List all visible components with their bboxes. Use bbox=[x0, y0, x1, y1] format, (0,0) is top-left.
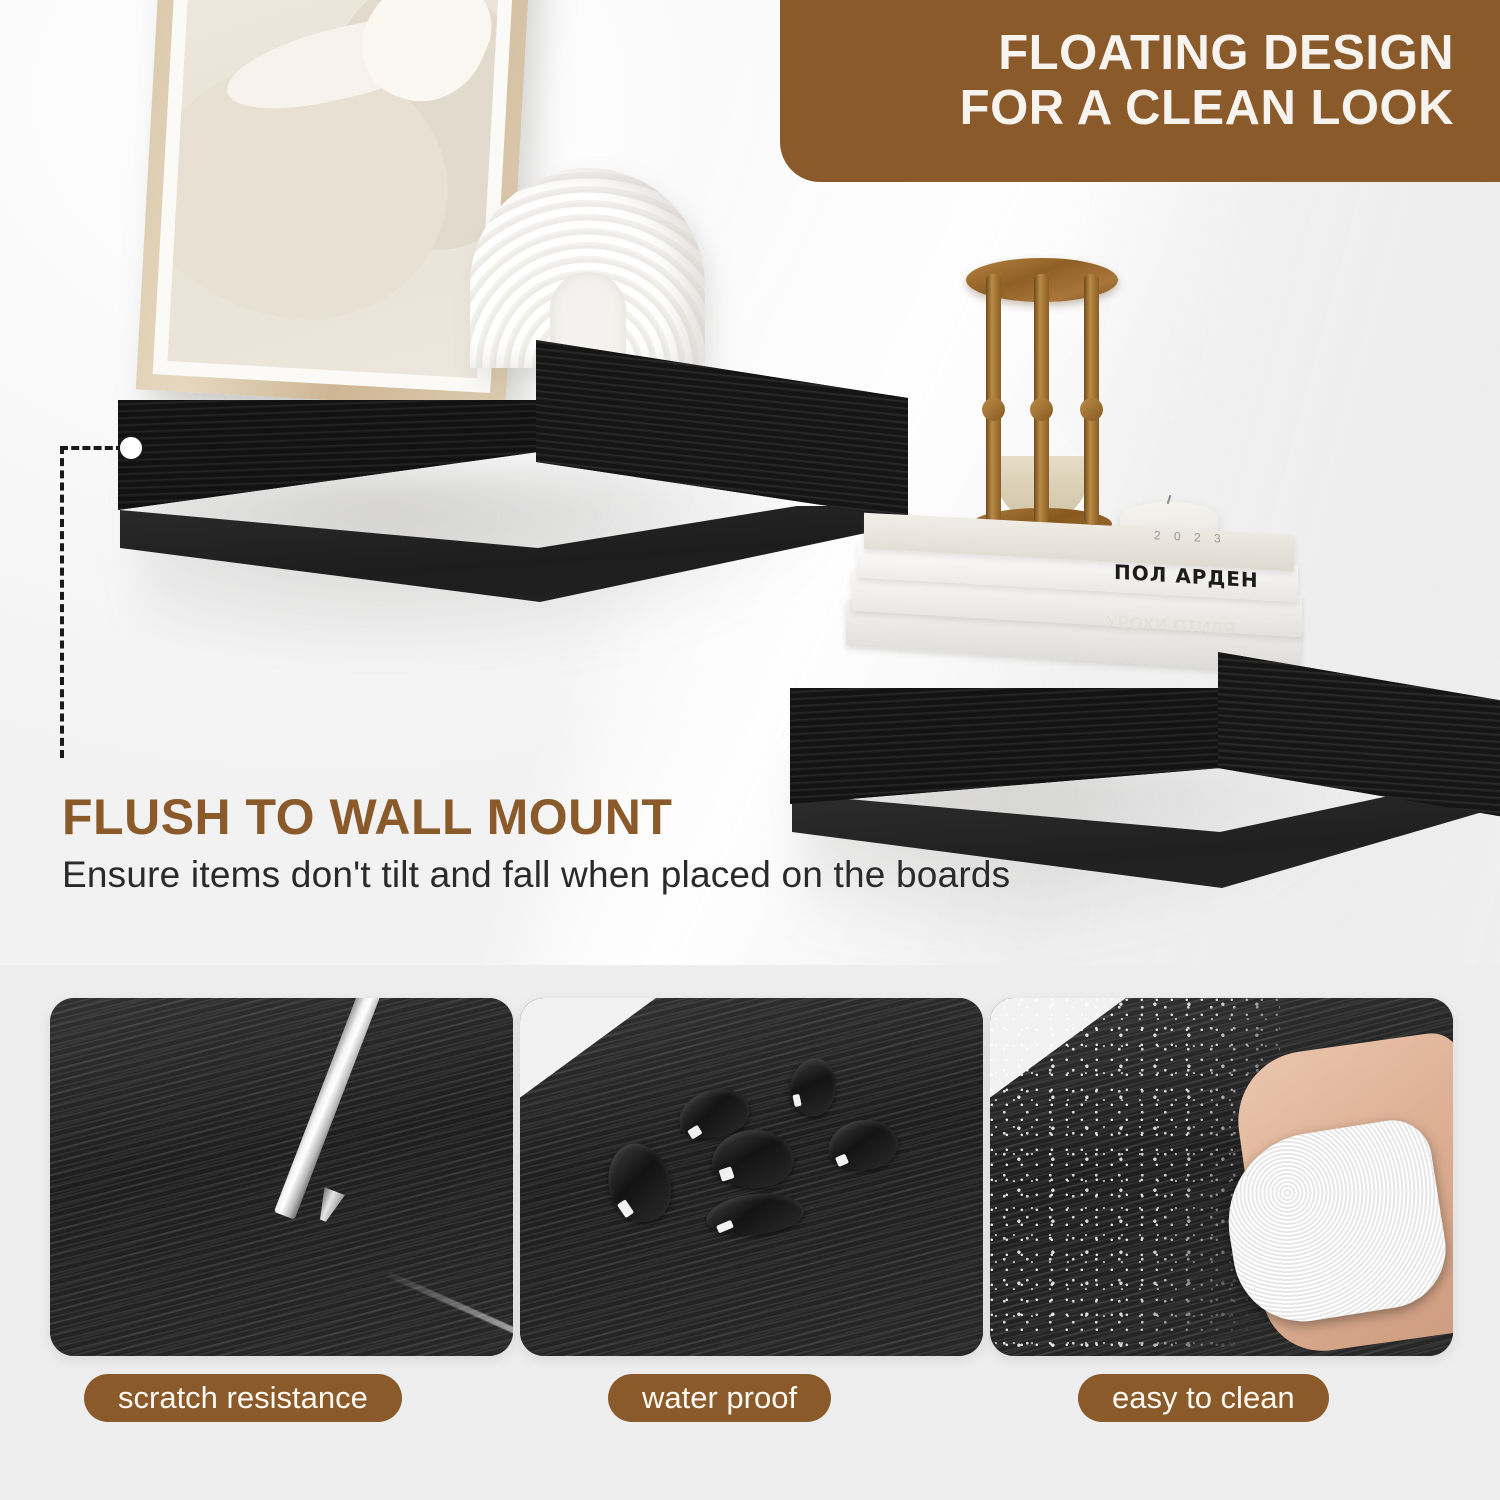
upper-shelf-front-face bbox=[118, 400, 538, 520]
banner-line-1: FLOATING DESIGN bbox=[836, 26, 1454, 81]
easy-to-clean-photo bbox=[990, 998, 1453, 1356]
page-title: FLUSH TO WALL MOUNT bbox=[62, 788, 672, 846]
banner-line-2: FOR A CLEAN LOOK bbox=[836, 81, 1454, 136]
callout-line-vertical bbox=[60, 446, 64, 758]
callout-dot-icon bbox=[118, 435, 144, 461]
hourglass-knob-center bbox=[1030, 398, 1053, 421]
floating-design-banner: FLOATING DESIGN FOR A CLEAN LOOK bbox=[780, 0, 1500, 182]
feature-label-water-proof: water proof bbox=[608, 1374, 831, 1422]
dust-powder-overlay bbox=[990, 998, 1280, 1356]
feature-panels bbox=[0, 998, 1500, 1358]
water-droplet bbox=[712, 1130, 794, 1188]
scratch-resistance-photo bbox=[50, 998, 513, 1356]
water-proof-photo bbox=[520, 998, 983, 1356]
upper-floating-shelf bbox=[118, 320, 908, 620]
product-feature-image: УРОКИ СТИЛЯ ПОЛ АРДЕН 2 0 2 3 FLOATING D… bbox=[0, 0, 1500, 1500]
feature-label-easy-to-clean: easy to clean bbox=[1078, 1374, 1329, 1422]
hourglass-knob-right bbox=[1080, 398, 1103, 421]
upper-shelf-underside bbox=[120, 506, 908, 636]
page-subtitle: Ensure items don't tilt and fall when pl… bbox=[62, 854, 1010, 896]
hourglass-knob-left bbox=[982, 398, 1005, 421]
feature-label-scratch-resistance: scratch resistance bbox=[84, 1374, 402, 1422]
callout-line-horizontal bbox=[60, 446, 124, 450]
